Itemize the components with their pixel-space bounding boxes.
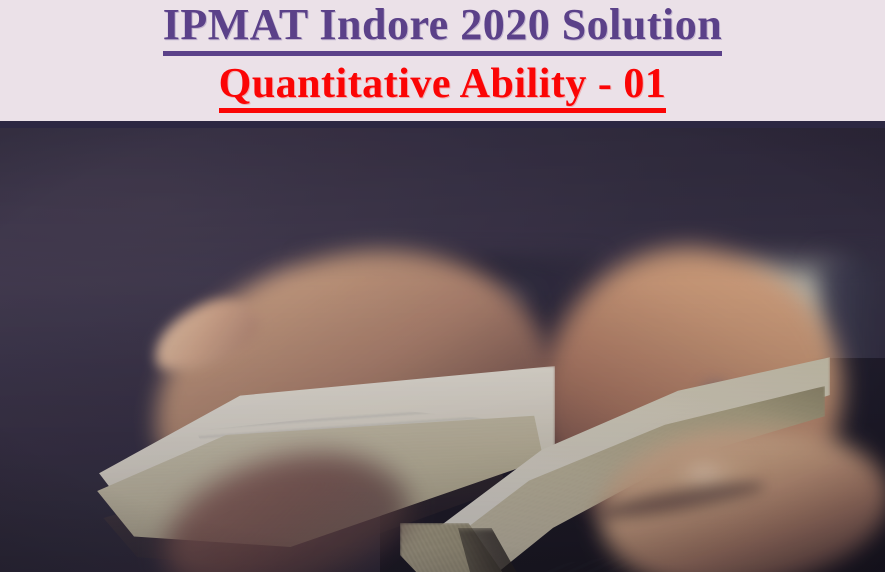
slide-canvas: IPMAT Indore 2020 Solution Quantitative …	[0, 0, 885, 572]
hero-photo	[0, 128, 885, 572]
page-title: IPMAT Indore 2020 Solution	[0, 3, 885, 56]
header-divider	[0, 121, 885, 128]
page-subtitle-text: Quantitative Ability - 01	[219, 63, 667, 113]
title-header: IPMAT Indore 2020 Solution Quantitative …	[0, 0, 885, 121]
page-subtitle: Quantitative Ability - 01	[0, 63, 885, 113]
photo-vignette	[0, 128, 885, 572]
page-title-text: IPMAT Indore 2020 Solution	[163, 3, 722, 56]
